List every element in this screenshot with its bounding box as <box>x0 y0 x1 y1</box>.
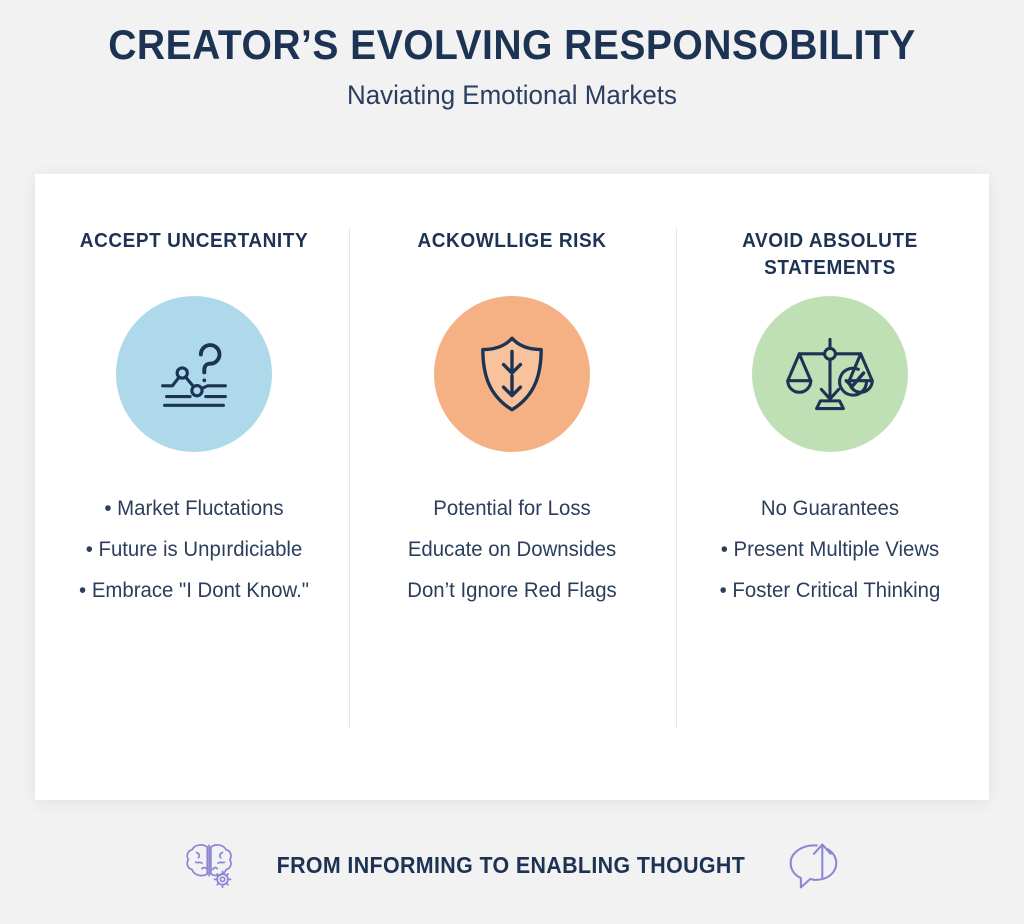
footer-tagline: FROM INFORMING TO ENABLING THOUGHT <box>277 852 746 879</box>
list-item: • Market Fluctations <box>49 488 338 529</box>
shield-downside-arrows-icon <box>434 296 590 452</box>
list-item: Educate on Downsides <box>367 529 656 570</box>
icon-wrap <box>45 296 343 452</box>
uncertainty-chart-icon <box>116 296 272 452</box>
list-item: • Future is Unpırdiciable <box>49 529 338 570</box>
list-item: Potential for Loss <box>367 488 656 529</box>
list-item: • Present Multiple Views <box>685 529 974 570</box>
columns-container: ACCEPT UNCERTANITY <box>35 174 989 800</box>
column-heading: ACCEPT UNCERTANITY <box>75 228 313 284</box>
column-acknowledge-risk: ACKOWLLIGE RISK Potential for Loss Educa… <box>353 174 671 800</box>
column-accept-uncertainty: ACCEPT UNCERTANITY <box>35 174 353 800</box>
brain-gear-icon <box>183 839 237 891</box>
icon-wrap <box>363 296 661 452</box>
column-heading: AVOID ABSOLUTE STATEMENTS <box>711 228 949 284</box>
bullet-list: Potential for Loss Educate on Downsides … <box>363 488 661 611</box>
page-subtitle: Naviating Emotional Markets <box>20 81 1003 111</box>
list-item: • Embrace "I Dont Know." <box>49 570 338 611</box>
list-item: No Guarantees <box>685 488 974 529</box>
bullet-list: • Market Fluctations • Future is Unpırdi… <box>45 488 343 611</box>
page-header: CREATOR’S EVOLVING RESPONSOBILITY Naviat… <box>0 0 1024 111</box>
bullet-list: No Guarantees • Present Multiple Views •… <box>681 488 979 611</box>
list-item: Don’t Ignore Red Flags <box>367 570 656 611</box>
speech-bubble-up-arrow-icon <box>785 838 841 892</box>
page-footer: FROM INFORMING TO ENABLING THOUGHT <box>0 838 1024 892</box>
balance-scales-check-icon <box>752 296 908 452</box>
column-avoid-absolute-statements: AVOID ABSOLUTE STATEMENTS <box>671 174 989 800</box>
page-title: CREATOR’S EVOLVING RESPONSOBILITY <box>36 22 988 67</box>
column-heading: ACKOWLLIGE RISK <box>393 228 631 284</box>
list-item: • Foster Critical Thinking <box>685 570 974 611</box>
icon-wrap <box>681 296 979 452</box>
content-card: ACCEPT UNCERTANITY <box>35 174 989 800</box>
